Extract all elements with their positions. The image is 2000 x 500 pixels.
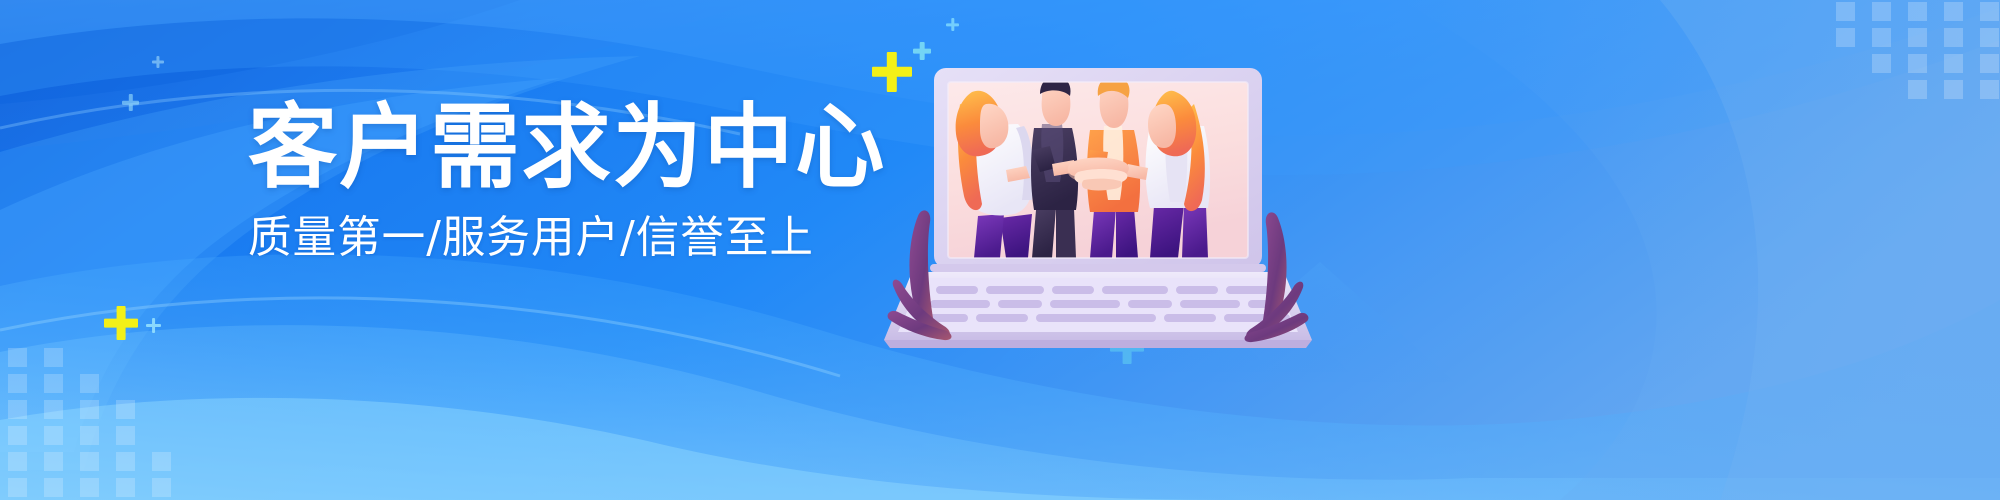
keyboard-keys <box>922 286 1290 322</box>
promo-banner: 客户需求为中心 质量第一/服务用户/信誉至上 <box>0 0 2000 500</box>
laptop-team-illustration <box>0 0 2000 500</box>
